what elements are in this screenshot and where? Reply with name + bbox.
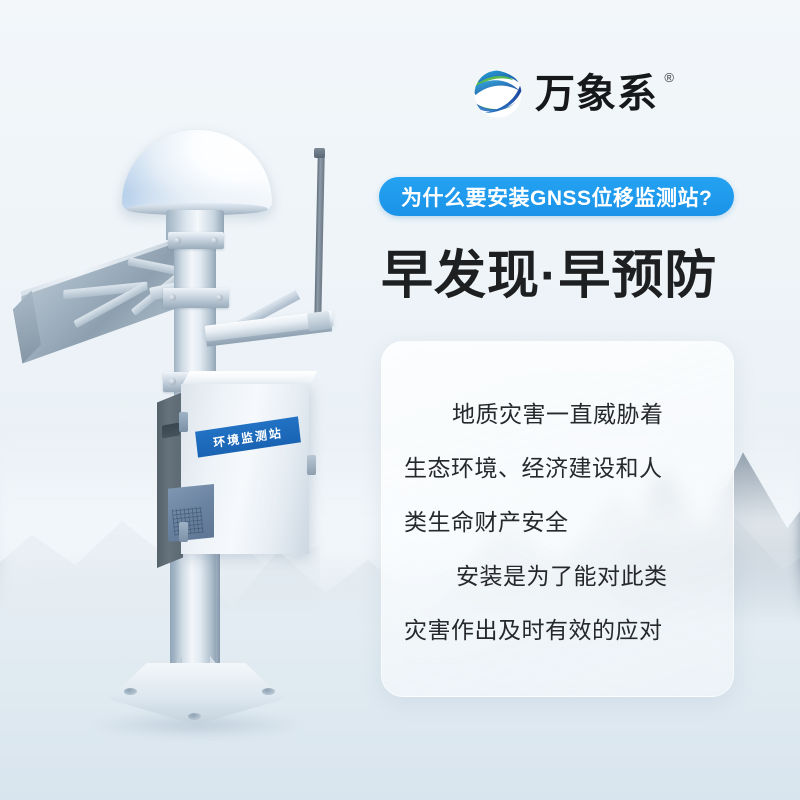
clamp-bolt <box>169 378 176 385</box>
description-line: 类生命财产安全 <box>404 510 711 534</box>
enclosure-hinge <box>179 522 188 542</box>
gnss-antenna-dome <box>122 130 272 212</box>
question-badge[interactable]: 为什么要安装GNSS位移监测站? <box>379 177 734 216</box>
monitoring-station-illustration: 环境监测站 <box>0 0 400 800</box>
whip-antenna-rod <box>314 152 325 324</box>
clamp-bolt <box>174 237 181 244</box>
enclosure-hinge <box>179 412 188 432</box>
description-line: 灾害作出及时有效的应对 <box>404 618 711 642</box>
swirl-globe-icon <box>470 66 526 122</box>
description-line: 地质灾害一直威胁着 <box>404 402 711 426</box>
base-bolt-hole <box>262 688 275 695</box>
enclosure-latch <box>307 455 316 475</box>
poster-canvas: 环境监测站 <box>0 0 800 800</box>
whip-antenna-cap <box>314 148 325 158</box>
description-card: 地质灾害一直威胁着 生态环境、经济建设和人 类生命财产安全 安装是为了能对此类 … <box>381 341 734 697</box>
description-line: 生态环境、经济建设和人 <box>404 456 711 480</box>
clamp-bolt <box>216 294 223 301</box>
clamp-bolt <box>169 294 176 301</box>
base-bolt-hole <box>124 688 137 695</box>
enclosure-vent-grille <box>172 507 205 536</box>
description-line: 安装是为了能对此类 <box>404 564 711 588</box>
base-bolt-hole <box>188 713 201 720</box>
clamp-bolt <box>211 237 218 244</box>
mast-clamp <box>168 232 224 249</box>
registered-trademark-icon: ® <box>664 71 675 84</box>
brand-name: 万象系 ® <box>535 74 658 114</box>
page-title: 早发现·早预防 <box>381 233 717 308</box>
question-badge-label: 为什么要安装GNSS位移监测站? <box>401 182 712 212</box>
mast-clamp <box>163 288 229 308</box>
brand-name-text: 万象系 <box>535 72 658 116</box>
whip-antenna-mount <box>307 311 331 332</box>
brand-logo: 万象系 ® <box>470 66 658 122</box>
